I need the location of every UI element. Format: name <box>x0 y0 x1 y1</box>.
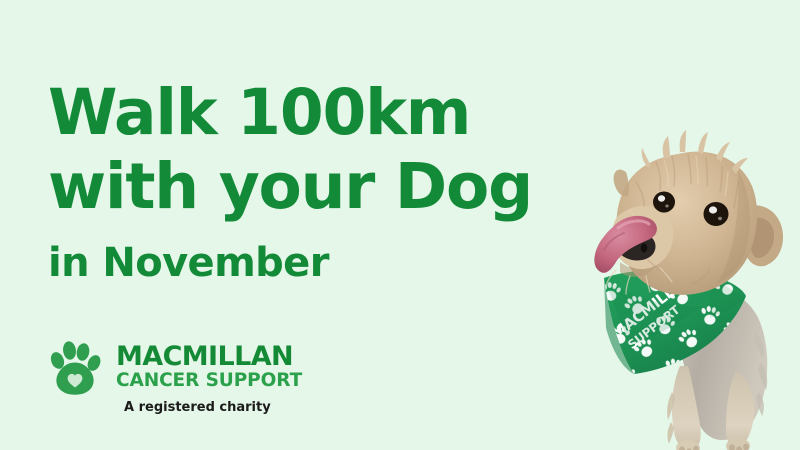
macmillan-wordmark: MACMILLAN CANCER SUPPORT A registered ch… <box>116 338 302 416</box>
paw-print-heart-icon <box>48 340 102 398</box>
headline-line-2: with your Dog <box>48 150 608 224</box>
wordmark-secondary: CANCER SUPPORT <box>116 371 302 391</box>
charity-statement: A registered charity <box>124 400 271 416</box>
promo-poster: Walk 100km with your Dog in November MAC… <box>0 0 800 450</box>
dog-head <box>594 130 783 295</box>
wordmark-primary: MACMILLAN <box>116 344 293 370</box>
subheadline: in November <box>48 240 329 286</box>
headline-line-1: Walk 100km <box>48 76 608 150</box>
dog-photo: MACMILLAN SUPPORT <box>560 110 800 450</box>
headline: Walk 100km with your Dog <box>48 76 608 224</box>
macmillan-logo: MACMILLAN CANCER SUPPORT A registered ch… <box>48 338 302 416</box>
